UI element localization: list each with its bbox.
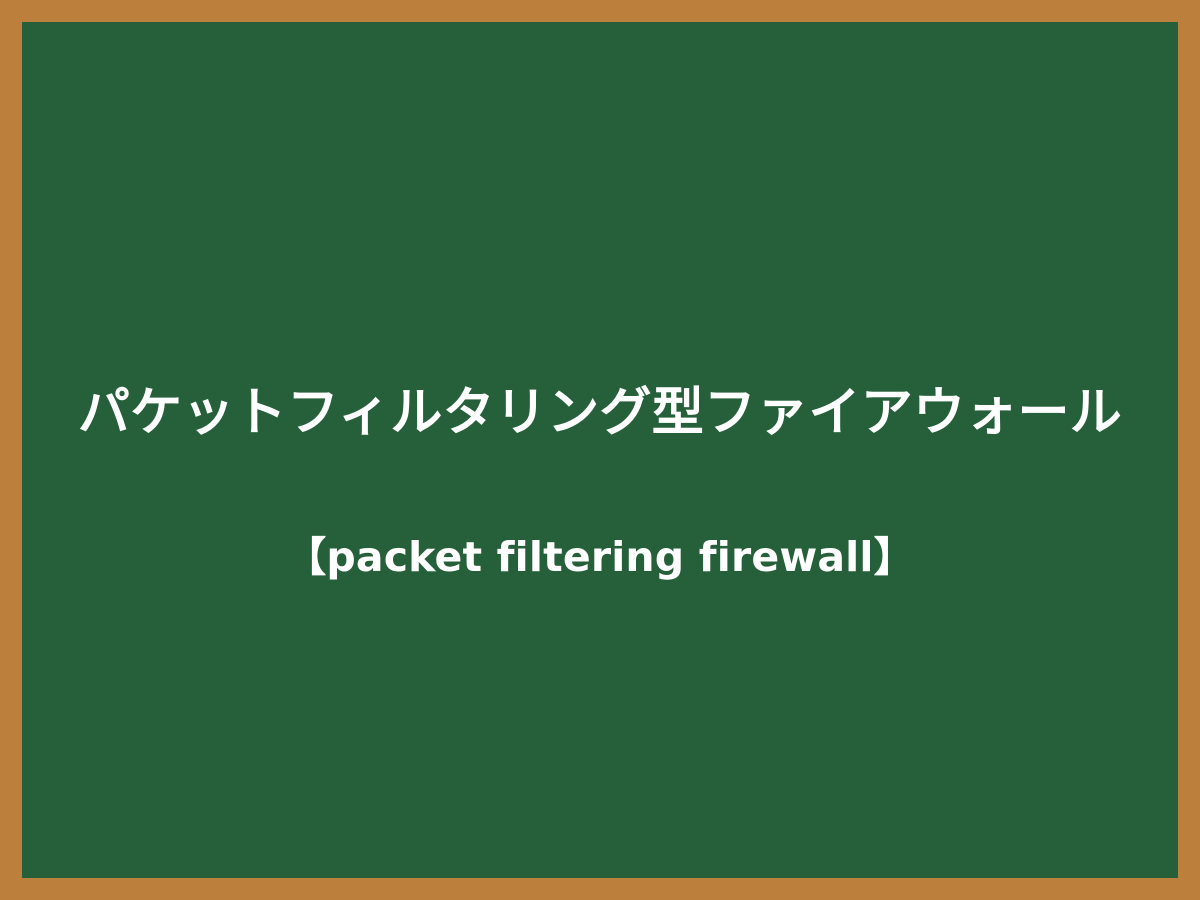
- term-caption-block: パケットフィルタリング型ファイアウォール 【packet filtering f…: [22, 382, 1178, 583]
- term-title-japanese: パケットフィルタリング型ファイアウォール: [22, 382, 1178, 445]
- term-subtitle-english: 【packet filtering firewall】: [22, 445, 1178, 582]
- chalkboard-frame: パケットフィルタリング型ファイアウォール 【packet filtering f…: [0, 0, 1200, 900]
- chalkboard-panel: パケットフィルタリング型ファイアウォール 【packet filtering f…: [22, 22, 1178, 878]
